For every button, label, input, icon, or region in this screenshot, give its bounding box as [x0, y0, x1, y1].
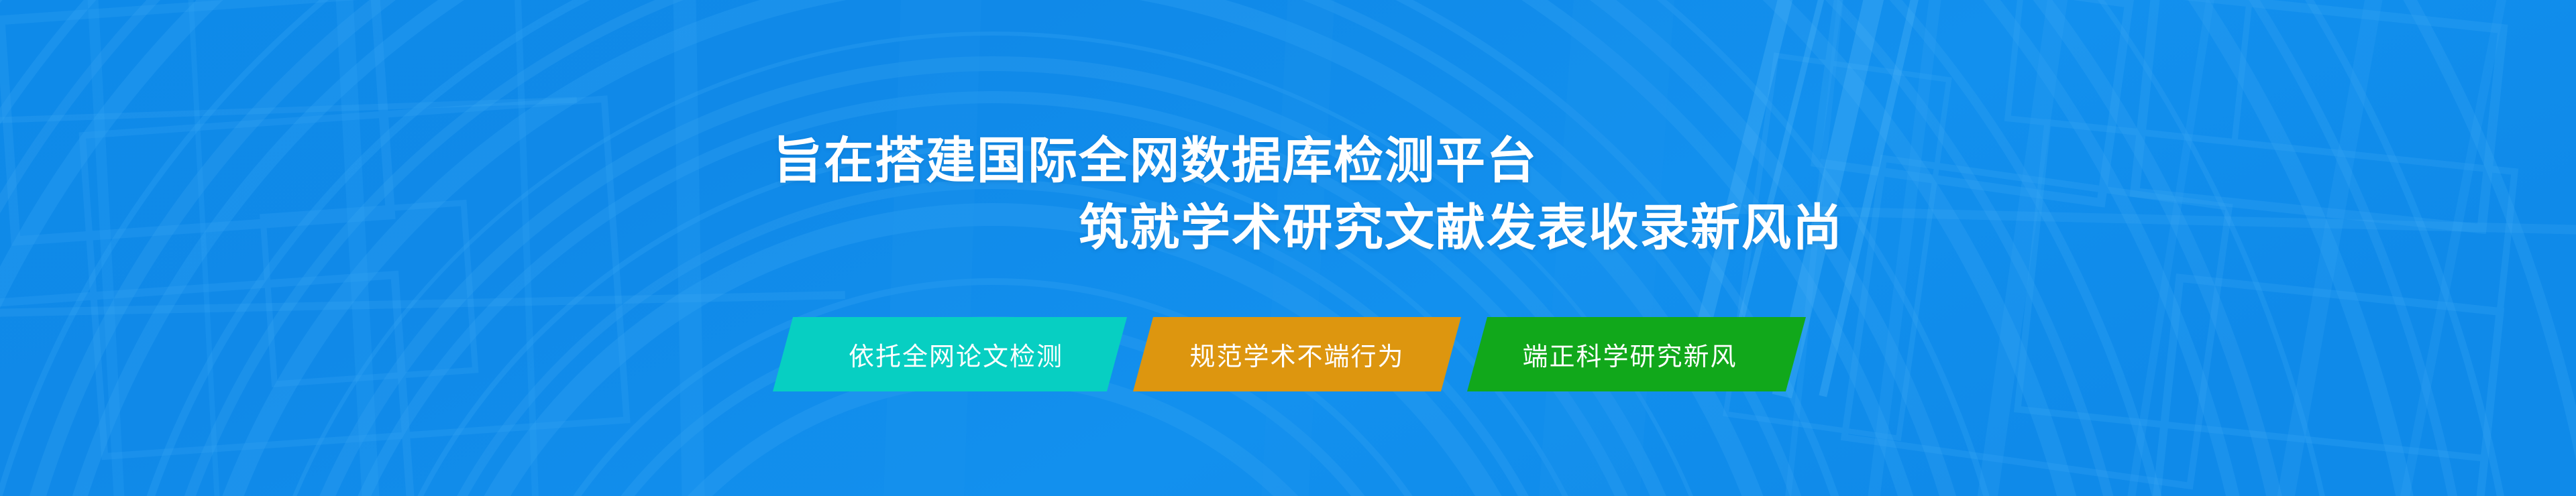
- feature-tag-group: 依托全网论文检测 规范学术不端行为 端正科学研究新风: [773, 317, 1806, 391]
- background-graphic: [0, 0, 2576, 496]
- feature-tag-research-ethos[interactable]: 端正科学研究新风: [1467, 317, 1806, 391]
- feature-tag-misconduct[interactable]: 规范学术不端行为: [1133, 317, 1461, 391]
- promo-banner: 旨在搭建国际全网数据库检测平台 筑就学术研究文献发表收录新风尚 依托全网论文检测…: [0, 0, 2576, 496]
- feature-tag-detection[interactable]: 依托全网论文检测: [773, 317, 1127, 391]
